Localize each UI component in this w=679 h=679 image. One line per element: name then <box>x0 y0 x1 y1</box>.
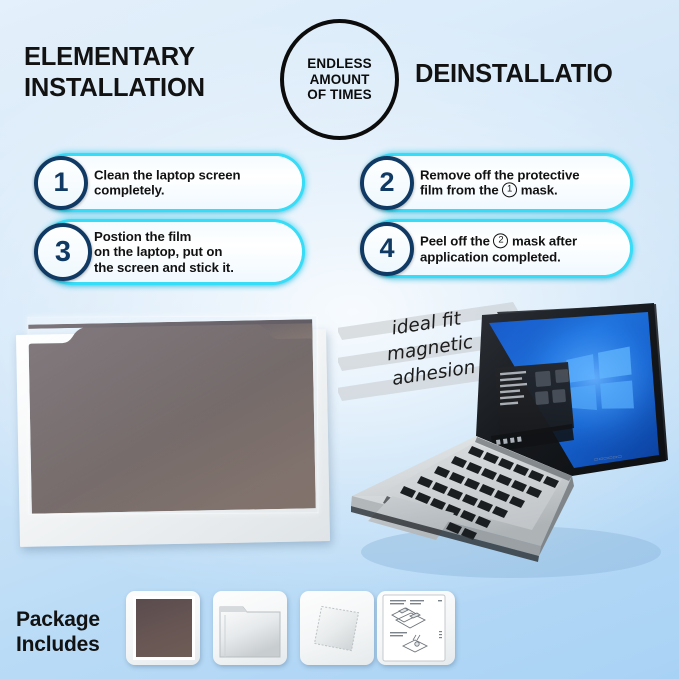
installation-steps: 1 Clean the laptop screen completely. 2 … <box>0 152 679 287</box>
endless-times-badge: ENDLESS AMOUNT OF TIMES <box>280 19 399 140</box>
header-right-title: DEINSTALLATIO <box>415 60 613 89</box>
step-number-badge-3: 3 <box>34 223 92 281</box>
step-text-4: Peel off the 2 mask after application co… <box>420 233 620 264</box>
product-infographic: ELEMENTARY INSTALLATION ENDLESS AMOUNT O… <box>0 0 679 679</box>
step-4-line1-post: mask after <box>508 233 577 248</box>
badge-line-3: OF TIMES <box>307 87 372 103</box>
step-3-line1: Postion the film <box>94 229 292 244</box>
step-item-2: 2 Remove off the protective film from th… <box>368 156 630 209</box>
step-4-line1: Peel off the 2 mask after <box>420 233 620 249</box>
step-2-line2: film from the 1 mask. <box>420 182 620 198</box>
step-2-line2-pre: film from the <box>420 182 502 197</box>
pouch-icon <box>213 591 287 665</box>
cloth-icon <box>300 591 374 665</box>
step-2-line2-post: mask. <box>517 182 557 197</box>
step-3-line3: the screen and stick it. <box>94 260 292 275</box>
badge-line-1: ENDLESS <box>307 56 372 72</box>
step-3-line2: on the laptop, put on <box>94 244 292 259</box>
step-text-1: Clean the laptop screen completely. <box>94 167 292 198</box>
step-2-line1: Remove off the protective <box>420 167 620 182</box>
header-left-title: ELEMENTARY INSTALLATION <box>24 42 274 104</box>
step-4-line1-pre: Peel off the <box>420 233 493 248</box>
header-left-line2: INSTALLATION <box>24 73 274 104</box>
laptop-product-shot: ▭▭▭▭▭▭ <box>336 300 679 590</box>
step-number-badge-1: 1 <box>34 156 88 210</box>
endless-times-badge-text: ENDLESS AMOUNT OF TIMES <box>307 56 372 103</box>
step-item-4: 4 Peel off the 2 mask after application … <box>368 222 630 275</box>
privacy-filter-product-shot <box>14 316 344 556</box>
header-left-line1: ELEMENTARY <box>24 42 274 73</box>
package-label-line2: Includes <box>16 633 100 658</box>
step-number-badge-2: 2 <box>360 156 414 210</box>
badge-line-2: AMOUNT <box>307 72 372 88</box>
package-item-cleaning-cloth <box>300 591 374 665</box>
circled-one-icon: 1 <box>502 182 517 197</box>
step-number-badge-4: 4 <box>360 222 414 276</box>
package-item-privacy-filter-film <box>126 591 200 665</box>
package-includes-label: Package Includes <box>16 608 100 658</box>
circled-two-icon: 2 <box>493 233 508 248</box>
step-text-2: Remove off the protective film from the … <box>420 167 620 198</box>
step-4-line2: application completed. <box>420 249 620 264</box>
package-item-storage-pouch <box>213 591 287 665</box>
step-1-line2: completely. <box>94 183 292 198</box>
manual-icon <box>377 591 455 665</box>
package-item-instruction-manual <box>377 591 455 665</box>
header: ELEMENTARY INSTALLATION ENDLESS AMOUNT O… <box>0 0 679 150</box>
step-item-1: 1 Clean the laptop screen completely. <box>42 156 302 209</box>
package-label-line1: Package <box>16 608 100 633</box>
step-item-3: 3 Postion the film on the laptop, put on… <box>42 222 302 282</box>
step-text-3: Postion the film on the laptop, put on t… <box>94 229 292 275</box>
film-protective-liner <box>27 315 318 515</box>
privacy-film-thumbnail-icon <box>136 599 192 657</box>
step-1-line1: Clean the laptop screen <box>94 167 292 182</box>
